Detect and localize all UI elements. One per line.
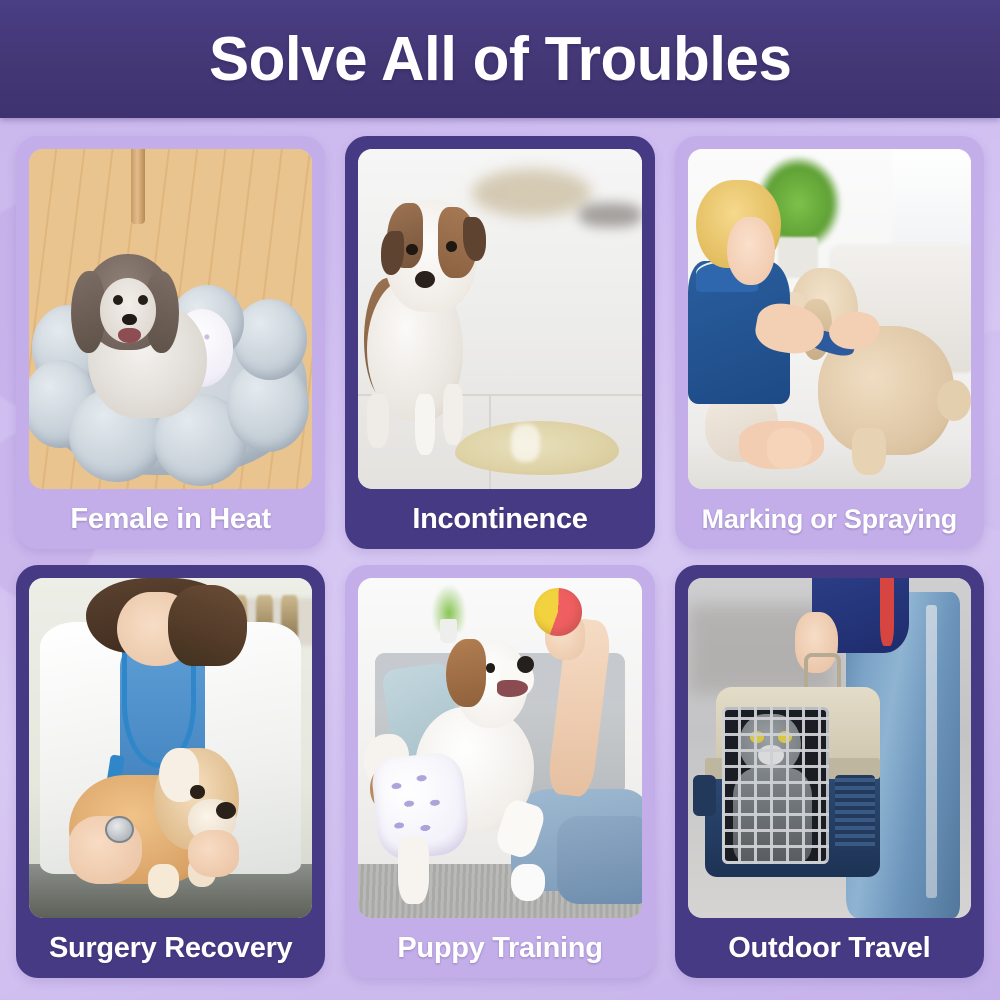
page-title: Solve All of Troubles — [209, 24, 791, 95]
card-female-in-heat[interactable]: Female in Heat — [16, 136, 325, 549]
photo-incontinence — [358, 149, 641, 489]
photo-female-in-heat — [29, 149, 312, 489]
header-bar: Solve All of Troubles — [0, 0, 1000, 118]
scene-poodle-in-bed — [29, 149, 312, 489]
photo-puppy-training — [358, 578, 641, 918]
scene-terrier-training — [358, 578, 641, 918]
grid-cell: Incontinence — [335, 128, 664, 557]
card-incontinence[interactable]: Incontinence — [345, 136, 654, 549]
card-surgery-recovery[interactable]: Surgery Recovery — [16, 565, 325, 978]
scene-boy-and-spaniel — [688, 149, 971, 489]
scene-vet-and-bulldog — [29, 578, 312, 918]
card-label-puppy-training: Puppy Training — [358, 918, 641, 978]
card-label-incontinence: Incontinence — [358, 489, 641, 549]
card-label-surgery-recovery: Surgery Recovery — [29, 918, 312, 978]
card-label-marking-or-spraying: Marking or Spraying — [688, 489, 971, 549]
grid-cell: Female in Heat — [6, 128, 335, 557]
feature-grid: Female in Heat — [0, 118, 1000, 1000]
card-label-female-in-heat: Female in Heat — [29, 489, 312, 549]
card-puppy-training[interactable]: Puppy Training — [345, 565, 654, 978]
photo-outdoor-travel — [688, 578, 971, 918]
grid-cell: Surgery Recovery — [6, 557, 335, 986]
card-marking-or-spraying[interactable]: Marking or Spraying — [675, 136, 984, 549]
photo-marking-or-spraying — [688, 149, 971, 489]
grid-cell: Outdoor Travel — [665, 557, 994, 986]
card-label-outdoor-travel: Outdoor Travel — [688, 918, 971, 978]
grid-cell: Marking or Spraying — [665, 128, 994, 557]
photo-surgery-recovery — [29, 578, 312, 918]
card-outdoor-travel[interactable]: Outdoor Travel — [675, 565, 984, 978]
grid-cell: Puppy Training — [335, 557, 664, 986]
scene-cat-carrier — [688, 578, 971, 918]
scene-puppy-puddle — [358, 149, 641, 489]
